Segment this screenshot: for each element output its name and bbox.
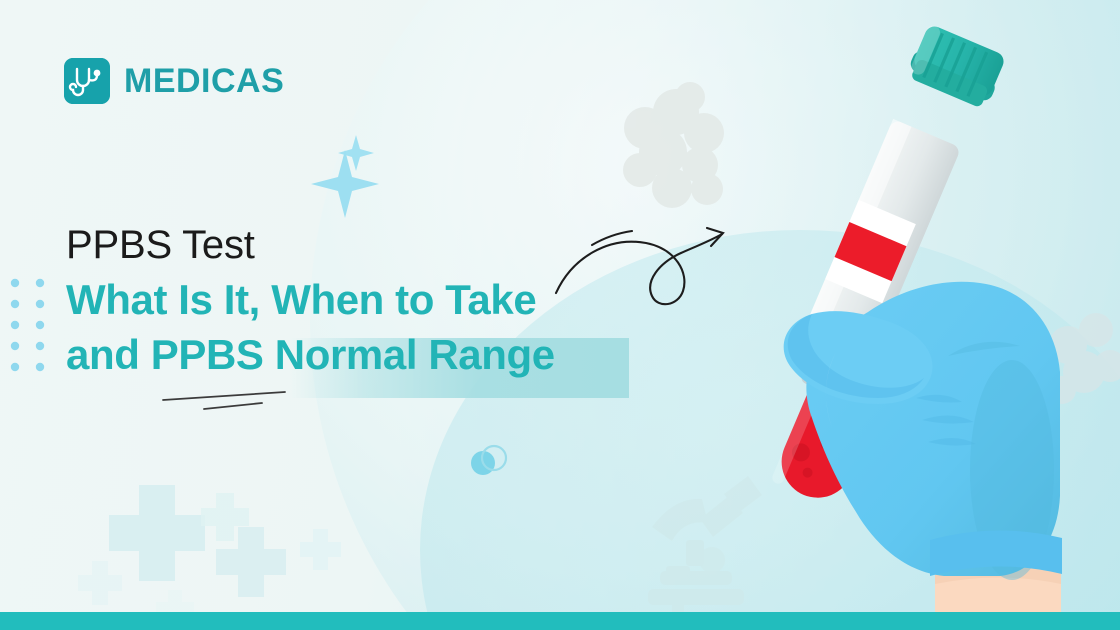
footer-accent-bar: [0, 612, 1120, 630]
brand-name: MEDICAS: [124, 62, 284, 101]
stethoscope-monogram-icon: [64, 58, 110, 104]
brand-logo[interactable]: MEDICAS: [64, 58, 284, 104]
hero-banner: PPBS Test What Is It, When to Take and P…: [0, 0, 1120, 630]
